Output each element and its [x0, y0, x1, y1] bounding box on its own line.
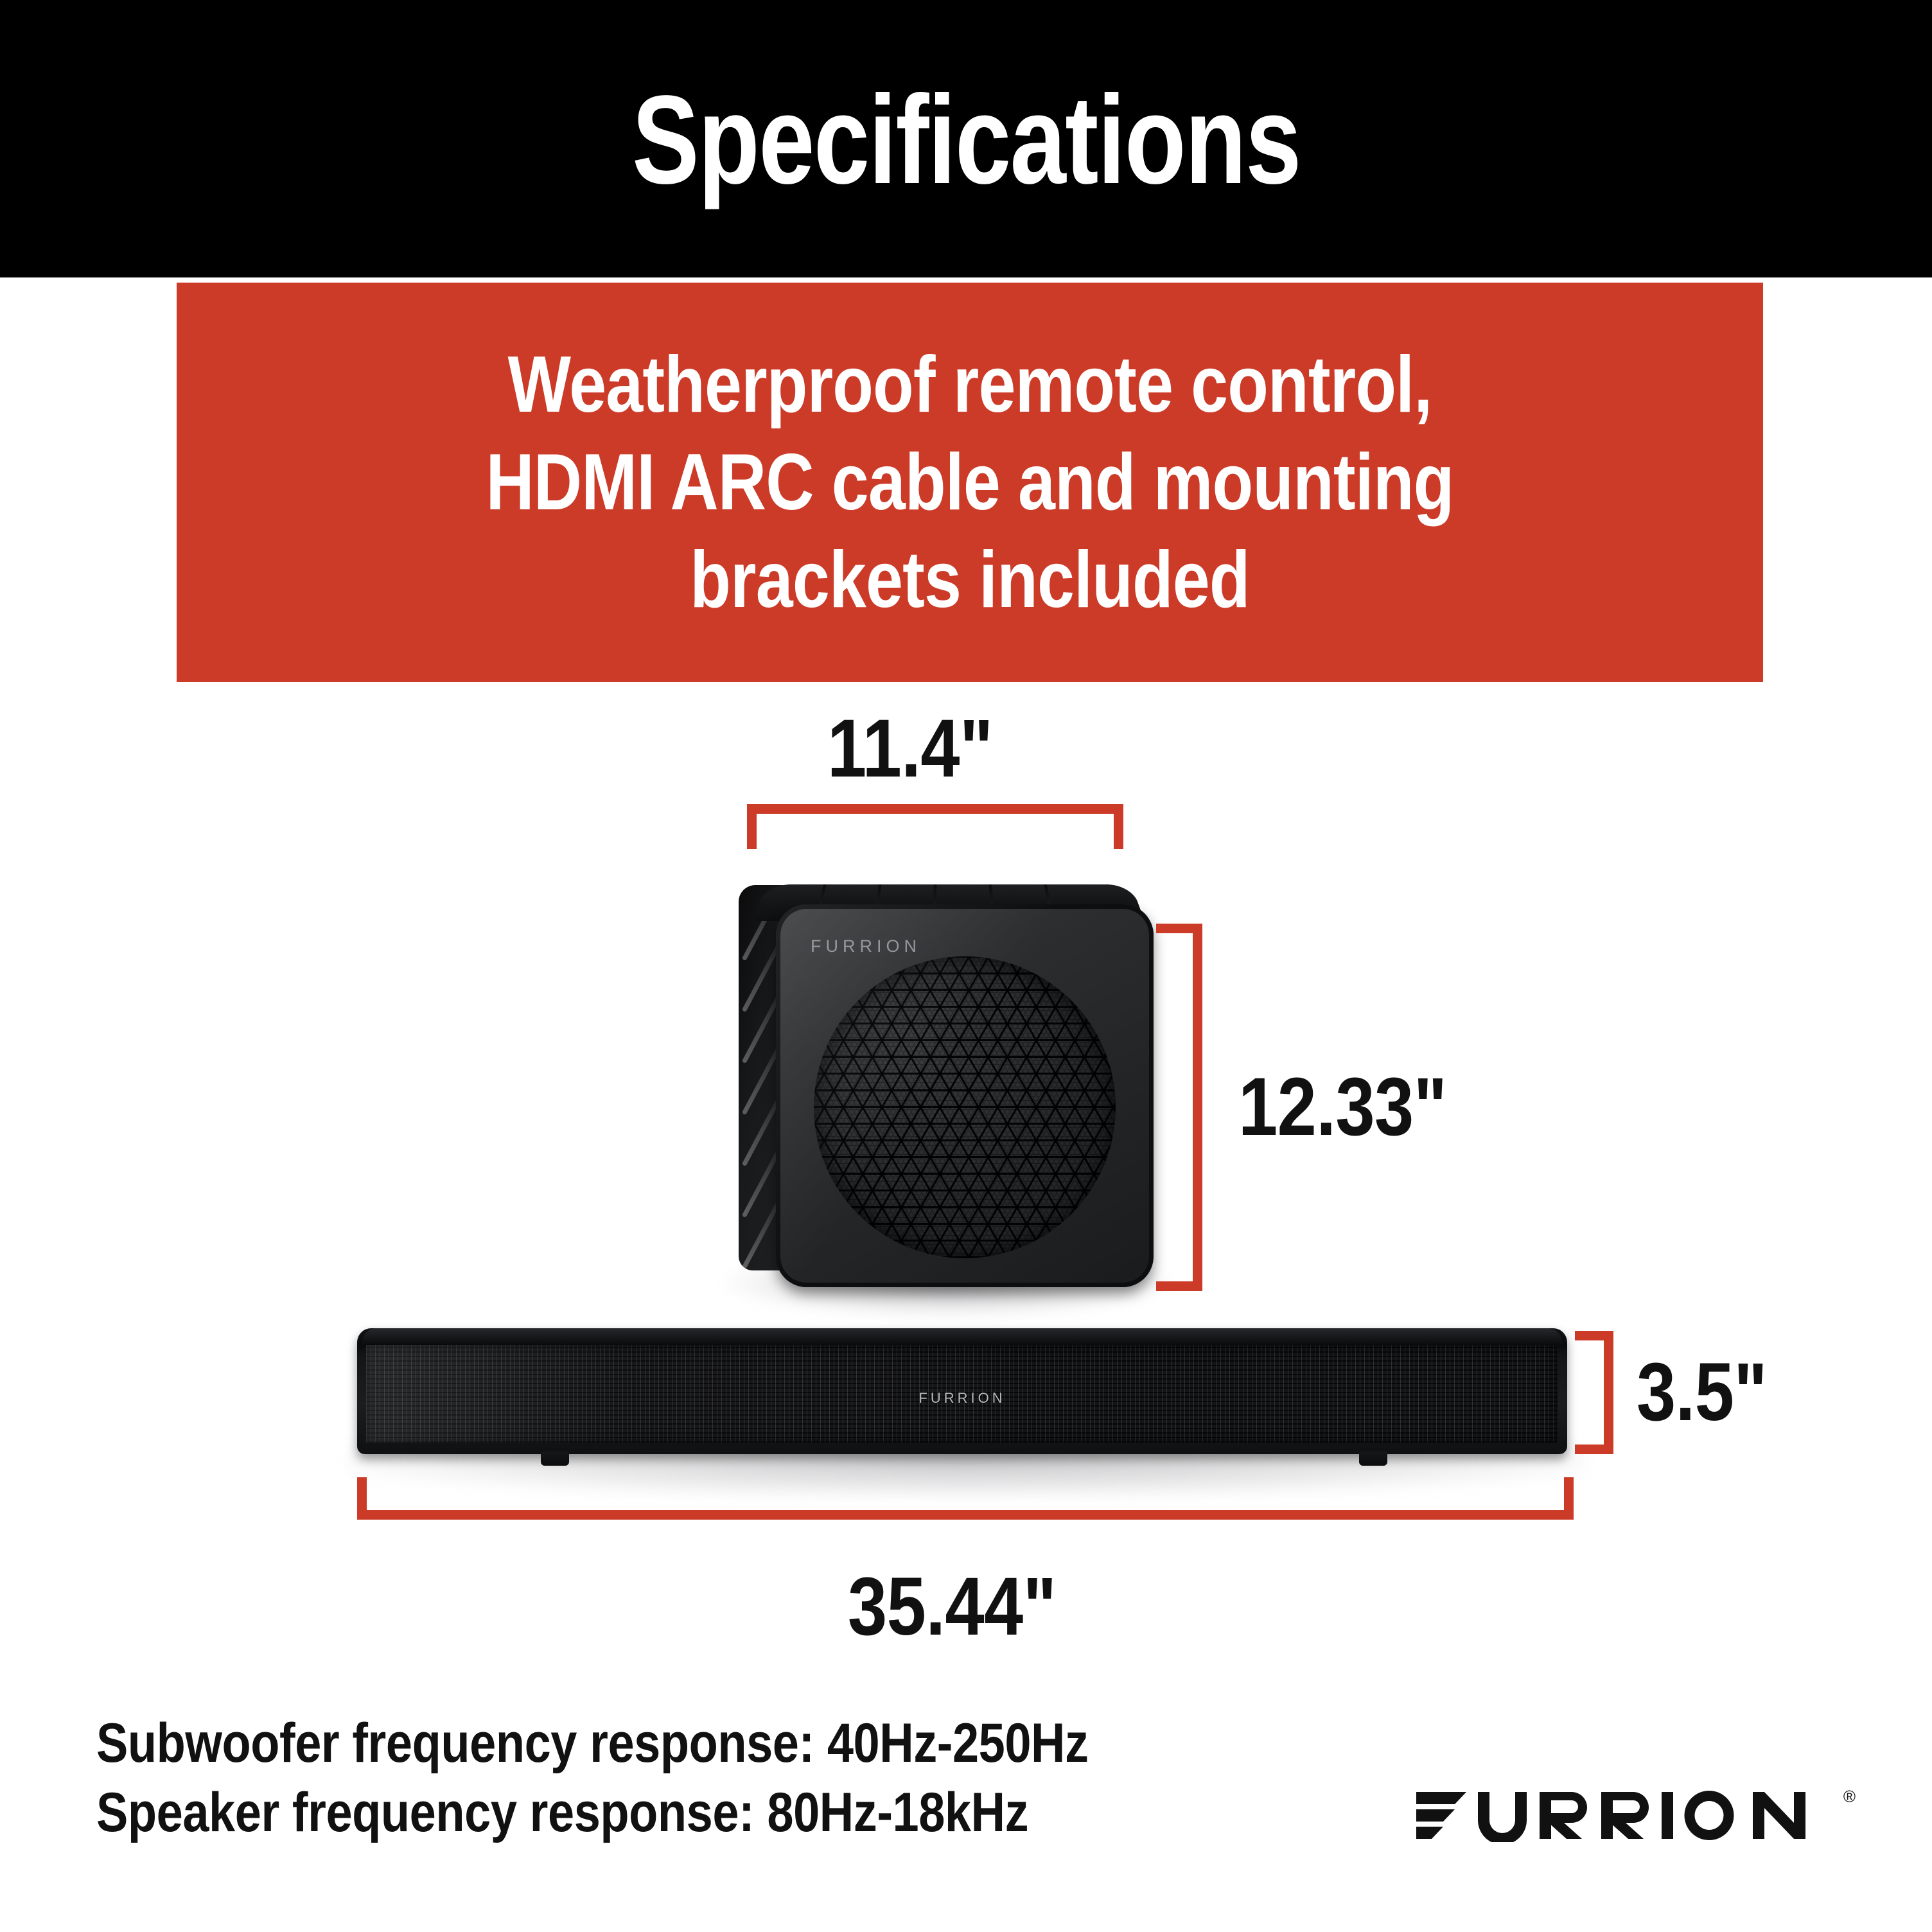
soundbar-width-label: 35.44"	[848, 1566, 1056, 1648]
subwoofer-width-bracket	[747, 804, 1123, 849]
subwoofer-height-label: 12.33"	[1238, 1066, 1446, 1148]
feature-banner-text: Weatherproof remote control, HDMI ARC ca…	[486, 336, 1454, 629]
feature-banner: Weatherproof remote control, HDMI ARC ca…	[177, 283, 1763, 682]
spec-line-subwoofer-frequency: Subwoofer frequency response: 40Hz-250Hz	[96, 1708, 1089, 1778]
soundbar-foot-right	[1359, 1452, 1387, 1466]
soundbar-height-label: 3.5"	[1637, 1351, 1767, 1434]
subwoofer-width-label: 11.4"	[827, 708, 993, 790]
feature-banner-line-2: HDMI ARC cable and mounting	[486, 434, 1454, 531]
soundbar-brand-label: FURRION	[918, 1390, 1005, 1407]
spec-text-block: Subwoofer frequency response: 40Hz-250Hz…	[96, 1708, 1250, 1847]
page-header: Specifications	[0, 0, 1932, 277]
soundbar-image: FURRION	[357, 1328, 1571, 1489]
feature-banner-line-1: Weatherproof remote control,	[486, 336, 1454, 434]
soundbar-width-bracket	[357, 1477, 1574, 1520]
spec-line-speaker-frequency: Speaker frequency response: 80Hz-18kHz	[96, 1778, 1089, 1847]
furrion-logo: ®	[1416, 1791, 1853, 1842]
soundbar-body: FURRION	[357, 1328, 1567, 1454]
subwoofer-height-bracket	[1156, 924, 1202, 1291]
registered-trademark-icon: ®	[1843, 1787, 1856, 1807]
subwoofer-image: FURRION	[739, 868, 1150, 1292]
feature-banner-line-3: brackets included	[486, 531, 1454, 629]
furrion-wordmark-icon	[1416, 1791, 1853, 1842]
page-title: Specifications	[632, 77, 1301, 203]
soundbar-height-bracket	[1575, 1331, 1613, 1454]
soundbar-top-edge	[362, 1328, 1562, 1345]
soundbar-foot-left	[541, 1452, 569, 1466]
subwoofer-brand-label: FURRION	[811, 936, 921, 956]
subwoofer-honeycomb-grille	[814, 956, 1116, 1258]
subwoofer-front-face: FURRION	[776, 904, 1154, 1287]
